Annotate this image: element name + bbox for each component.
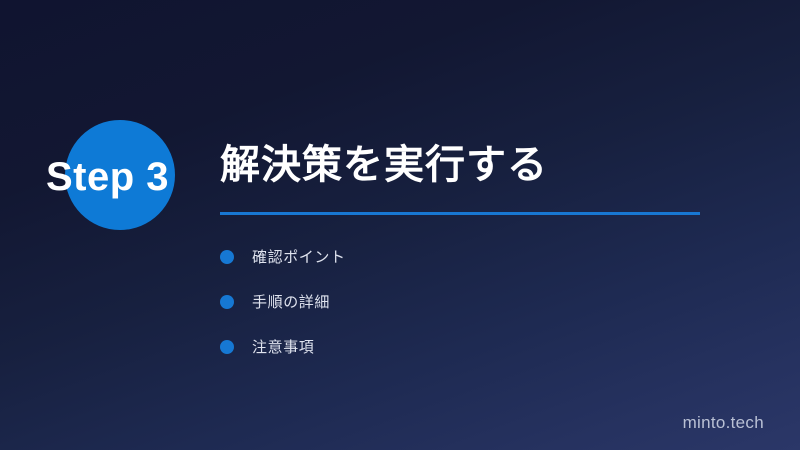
bullet-dot-icon: [220, 250, 234, 264]
bullet-label: 手順の詳細: [252, 291, 330, 312]
slide-title: 解決策を実行する: [220, 143, 548, 188]
bullet-dot-icon: [220, 340, 234, 354]
bullet-dot-icon: [220, 295, 234, 309]
presentation-slide: Step 3 解決策を実行する 確認ポイント 手順の詳細 注意事項 minto.…: [0, 0, 800, 450]
bullet-label: 確認ポイント: [252, 246, 346, 267]
list-item: 注意事項: [220, 324, 690, 369]
list-item: 確認ポイント: [220, 234, 690, 279]
list-item: 手順の詳細: [220, 279, 690, 324]
title-divider: [220, 212, 700, 215]
bullet-label: 注意事項: [252, 336, 314, 357]
footer-brand: minto.tech: [683, 413, 764, 433]
bullet-list: 確認ポイント 手順の詳細 注意事項: [220, 234, 690, 369]
step-badge-label: Step 3: [46, 152, 216, 202]
